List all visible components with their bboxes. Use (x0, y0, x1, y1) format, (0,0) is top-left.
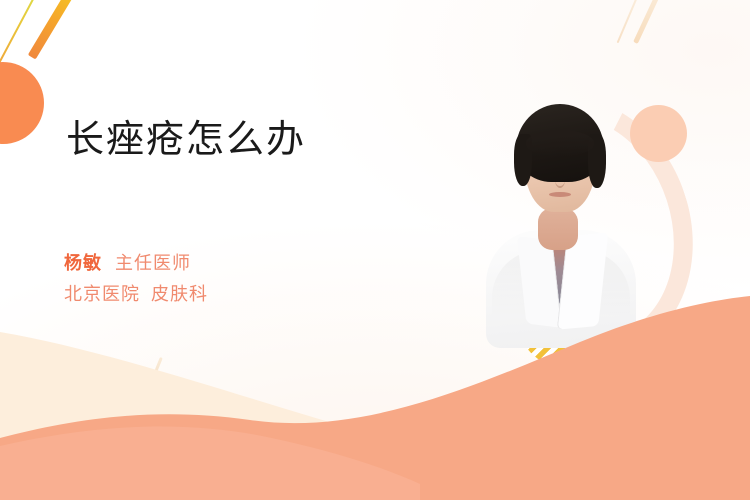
hair-fringe (526, 130, 594, 156)
neck (538, 208, 578, 250)
doctor-meta-line-2: 北京医院皮肤科 (64, 279, 208, 310)
mouth (549, 192, 571, 197)
doctor-rank: 主任医师 (115, 253, 191, 273)
doctor-department: 皮肤科 (151, 284, 208, 304)
doctor-name: 杨敏 (64, 253, 102, 273)
doctor-hospital: 北京医院 (64, 284, 140, 304)
doctor-meta: 杨敏主任医师 北京医院皮肤科 (64, 248, 208, 310)
doctor-meta-line-1: 杨敏主任医师 (64, 248, 208, 279)
promo-card: 长痤疮怎么办 杨敏主任医师 北京医院皮肤科 (0, 0, 750, 500)
page-title: 长痤疮怎么办 (66, 116, 306, 164)
